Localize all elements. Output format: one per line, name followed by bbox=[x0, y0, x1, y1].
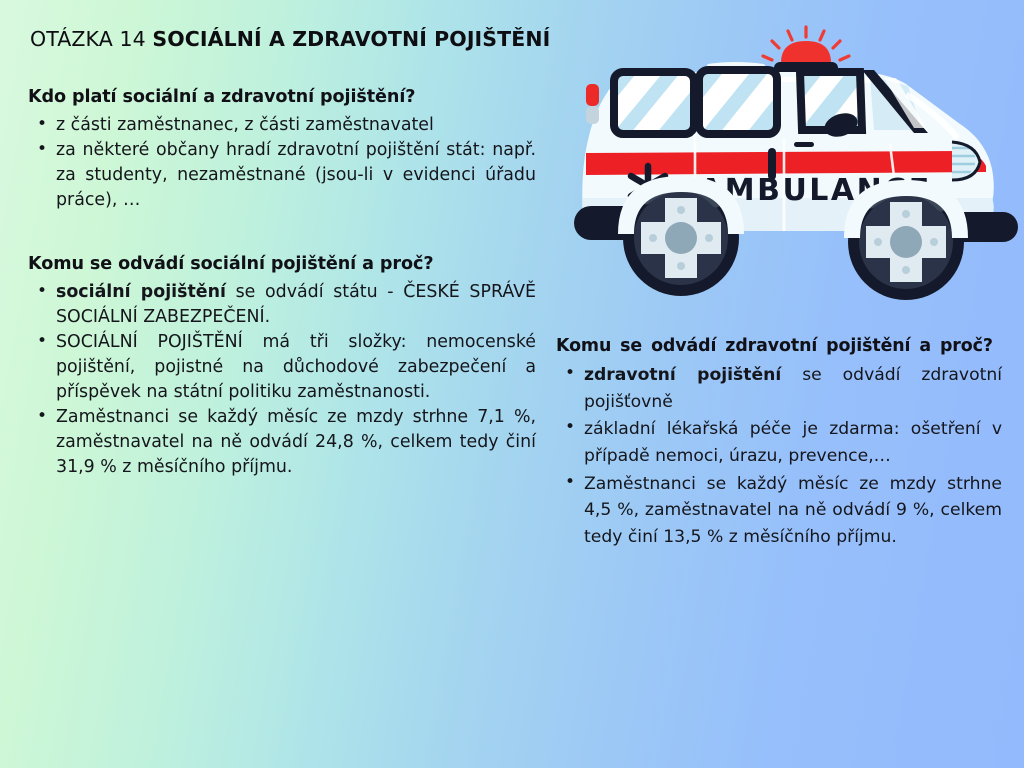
list-item: zdravotní pojištění se odvádí zdravotní … bbox=[556, 362, 1002, 415]
bullet-text: Zaměstnanci se každý měsíc ze mzdy strhn… bbox=[56, 407, 536, 476]
bullet-text: SOCIÁLNÍ POJIŠTĚNÍ má tři složky: nemoce… bbox=[56, 332, 536, 401]
bullet-text: za některé občany hradí zdravotní pojišt… bbox=[56, 140, 536, 209]
left-text-column: Kdo platí sociální a zdravotní pojištění… bbox=[28, 86, 536, 480]
bullet-text: z části zaměstnanec, z části zaměstnavat… bbox=[56, 115, 434, 135]
list-item: za některé občany hradí zdravotní pojišt… bbox=[28, 138, 536, 212]
door-handle bbox=[794, 142, 814, 147]
siren-dome bbox=[781, 41, 831, 63]
tail-light bbox=[586, 84, 599, 106]
bullet-lead: sociální pojištění bbox=[56, 282, 226, 302]
bullet-lead: zdravotní pojištění bbox=[584, 365, 781, 385]
list-item: základní lékařská péče je zdarma: ošetře… bbox=[556, 416, 1002, 469]
page-title: OTÁZKA 14 SOCIÁLNÍ A ZDRAVOTNÍ POJIŠTĚNÍ bbox=[30, 27, 550, 52]
list-who-pays: z části zaměstnanec, z části zaměstnavat… bbox=[28, 113, 536, 213]
list-item: Zaměstnanci se každý měsíc ze mzdy strhn… bbox=[556, 471, 1002, 551]
list-item: sociální pojištění se odvádí státu - ČES… bbox=[28, 280, 536, 329]
bullet-text: Zaměstnanci se každý měsíc ze mzdy strhn… bbox=[584, 474, 1002, 547]
heading-health-insurance: Komu se odvádí zdravotní pojištění a pro… bbox=[556, 334, 1002, 358]
right-text-column: Komu se odvádí zdravotní pojištění a pro… bbox=[556, 334, 1002, 552]
ambulance-illustration: AMBULANCE bbox=[556, 20, 1024, 320]
slide-canvas: OTÁZKA 14 SOCIÁLNÍ A ZDRAVOTNÍ POJIŠTĚNÍ… bbox=[0, 0, 1024, 768]
title-main: SOCIÁLNÍ A ZDRAVOTNÍ POJIŠTĚNÍ bbox=[152, 27, 550, 51]
list-health-insurance: zdravotní pojištění se odvádí zdravotní … bbox=[556, 362, 1002, 551]
list-social-insurance: sociální pojištění se odvádí státu - ČES… bbox=[28, 280, 536, 480]
section-spacer bbox=[28, 213, 536, 253]
heading-social-insurance: Komu se odvádí sociální pojištění a proč… bbox=[28, 253, 536, 276]
list-item: SOCIÁLNÍ POJIŠTĚNÍ má tři složky: nemoce… bbox=[28, 330, 536, 404]
list-item: Zaměstnanci se každý měsíc ze mzdy strhn… bbox=[28, 405, 536, 479]
title-prefix: OTÁZKA 14 bbox=[30, 27, 146, 51]
bullet-text: základní lékařská péče je zdarma: ošetře… bbox=[584, 419, 1002, 466]
tail-light-lower bbox=[586, 106, 599, 124]
window-mid-group bbox=[682, 56, 790, 147]
heading-who-pays: Kdo platí sociální a zdravotní pojištění… bbox=[28, 86, 536, 109]
list-item: z části zaměstnanec, z části zaměstnavat… bbox=[28, 113, 536, 138]
